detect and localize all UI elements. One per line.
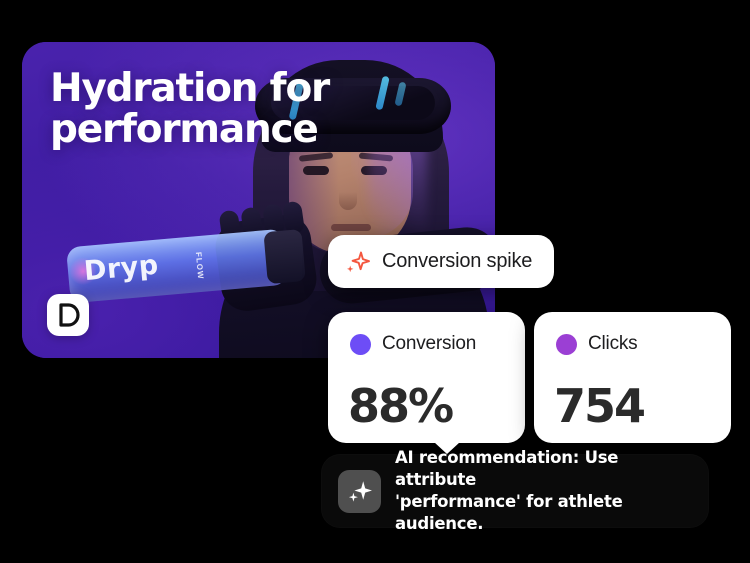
metric-dot-clicks: [556, 334, 577, 355]
spike-label: Conversion spike: [382, 250, 532, 273]
bottle-cap: [263, 229, 305, 284]
metric-value: 754: [554, 383, 644, 429]
ad-headline: Hydration for performance: [50, 68, 350, 151]
bottle-brand-text: Dryp: [83, 252, 160, 285]
eye-left: [303, 166, 329, 175]
ai-sparkle-icon: [346, 478, 373, 505]
headline-line-2: performance: [50, 109, 350, 150]
ai-text-line-2: 'performance' for athlete audience.: [395, 491, 692, 535]
ai-recommendation-text: AI recommendation: Use attribute 'perfor…: [395, 447, 692, 534]
metric-card-clicks[interactable]: Clicks 754: [534, 312, 731, 443]
metric-header: Clicks: [556, 333, 637, 355]
sparkle-icon: [344, 249, 370, 275]
metric-value: 88%: [348, 383, 452, 429]
conversion-spike-pill[interactable]: Conversion spike: [328, 235, 554, 288]
canvas: Dryp FLOW Hydration for performance Conv…: [0, 0, 750, 563]
ai-icon-tile: [338, 470, 381, 513]
brand-d-icon: [55, 302, 81, 328]
mouth: [331, 224, 371, 231]
metric-label: Conversion: [382, 333, 476, 355]
ai-text-line-1: AI recommendation: Use attribute: [395, 447, 692, 491]
metric-header: Conversion: [350, 333, 476, 355]
metric-dot-conversion: [350, 334, 371, 355]
headline-line-1: Hydration for: [50, 68, 350, 109]
ai-recommendation-bar[interactable]: AI recommendation: Use attribute 'perfor…: [322, 455, 708, 527]
ad-creative-card[interactable]: Dryp FLOW Hydration for performance: [22, 42, 495, 358]
nose: [339, 180, 357, 210]
brand-logo-badge: [47, 294, 89, 336]
metric-label: Clicks: [588, 333, 637, 355]
metric-card-conversion[interactable]: Conversion 88%: [328, 312, 525, 443]
